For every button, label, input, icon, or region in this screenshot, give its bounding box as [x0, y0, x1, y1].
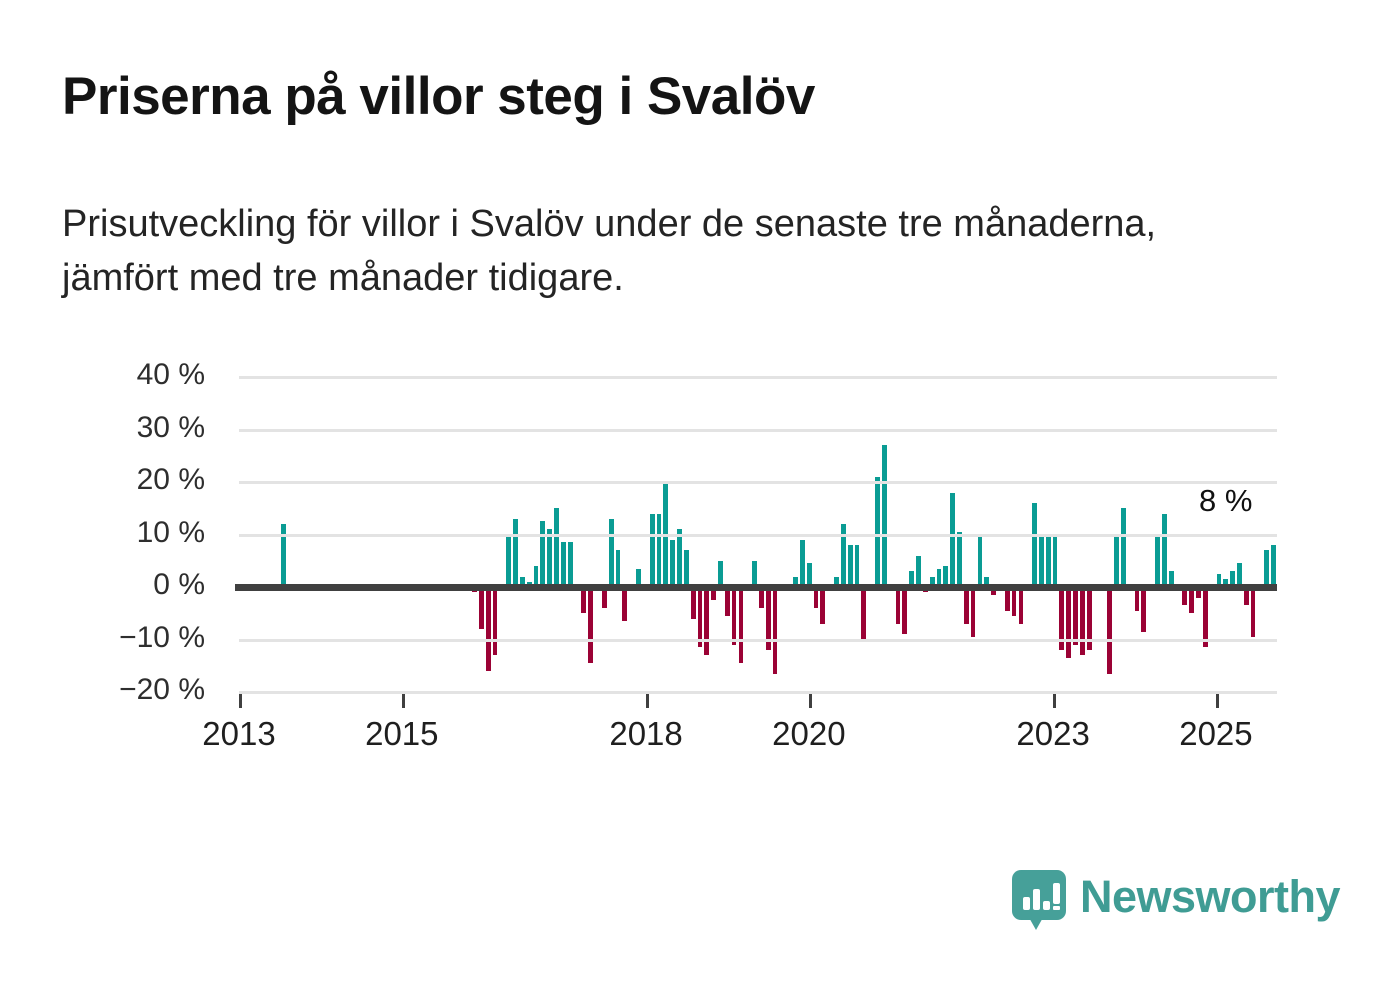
bar-chart: 40 %30 %20 %10 %0 %−10 %−20 % 2013201520… — [0, 0, 1382, 999]
logo-exclamation-dot — [1053, 906, 1060, 910]
x-axis-tick — [1053, 694, 1056, 708]
bar — [1114, 535, 1119, 588]
logo-bar-2 — [1033, 889, 1040, 910]
bar — [1080, 587, 1085, 655]
bar — [493, 587, 498, 655]
bar — [704, 587, 709, 655]
logo-bubble-tail — [1027, 914, 1045, 930]
gridline — [239, 376, 1277, 379]
bar — [1271, 545, 1276, 587]
bar — [554, 508, 559, 587]
x-axis-label: 2025 — [1179, 715, 1252, 753]
bar — [902, 587, 907, 634]
bar — [547, 529, 552, 587]
bar — [1066, 587, 1071, 658]
bar — [739, 587, 744, 663]
chart-page: Priserna på villor steg i Svalöv Prisutv… — [0, 0, 1382, 999]
x-axis-label: 2013 — [202, 715, 275, 753]
bar — [650, 514, 655, 588]
gridline — [239, 691, 1277, 694]
x-axis-tick — [1216, 694, 1219, 708]
newsworthy-logo-icon — [1012, 870, 1066, 924]
logo-bar-1 — [1023, 897, 1030, 910]
bar — [1012, 587, 1017, 616]
bar — [820, 587, 825, 624]
bar — [1032, 503, 1037, 587]
bar — [855, 545, 860, 587]
logo-wordmark: Newsworthy — [1080, 871, 1340, 923]
logo-bar-3 — [1043, 901, 1050, 910]
bar — [957, 532, 962, 587]
bar — [964, 587, 969, 624]
bar — [1107, 587, 1112, 674]
gridline — [239, 481, 1277, 484]
bar — [1073, 587, 1078, 645]
x-axis-label: 2015 — [365, 715, 438, 753]
bar — [670, 540, 675, 587]
bar — [616, 550, 621, 587]
bar — [1141, 587, 1146, 632]
bar — [561, 542, 566, 587]
bar — [691, 587, 696, 619]
bar — [486, 587, 491, 671]
bar — [1155, 537, 1160, 587]
bar — [773, 587, 778, 674]
last-value-annotation: 8 % — [1199, 483, 1252, 519]
bar — [588, 587, 593, 663]
bar — [513, 519, 518, 587]
bar — [479, 587, 484, 629]
gridline — [239, 639, 1277, 642]
bar — [677, 529, 682, 587]
x-axis-tick — [646, 694, 649, 708]
bar — [1053, 535, 1058, 588]
bar — [1264, 550, 1269, 587]
bar — [506, 535, 511, 588]
bar — [882, 445, 887, 587]
bar — [684, 550, 689, 587]
bar — [1251, 587, 1256, 637]
bar — [971, 587, 976, 637]
bar — [609, 519, 614, 587]
x-axis-label: 2023 — [1016, 715, 1089, 753]
x-axis-label: 2018 — [609, 715, 682, 753]
x-axis-tick — [239, 694, 242, 708]
bar — [861, 587, 866, 642]
plot-area — [239, 377, 1277, 692]
bar — [1121, 508, 1126, 587]
bar — [568, 542, 573, 587]
bar — [875, 477, 880, 587]
bar — [657, 514, 662, 588]
bar — [916, 556, 921, 588]
newsworthy-logo[interactable]: Newsworthy — [1012, 870, 1340, 924]
bar — [800, 540, 805, 587]
bar — [896, 587, 901, 624]
bar — [725, 587, 730, 616]
x-axis-tick — [402, 694, 405, 708]
x-axis-label: 2020 — [772, 715, 845, 753]
bar — [540, 521, 545, 587]
gridline — [239, 534, 1277, 537]
x-axis-tick — [809, 694, 812, 708]
logo-exclamation-stem — [1053, 883, 1060, 904]
bar — [950, 493, 955, 588]
bar — [1039, 535, 1044, 588]
bar — [622, 587, 627, 621]
bar — [978, 535, 983, 588]
bar — [848, 545, 853, 587]
gridline — [239, 429, 1277, 432]
zero-axis-line — [235, 584, 1277, 591]
bar — [1162, 514, 1167, 588]
bar — [1046, 535, 1051, 588]
bar — [1019, 587, 1024, 624]
bar — [732, 587, 737, 645]
